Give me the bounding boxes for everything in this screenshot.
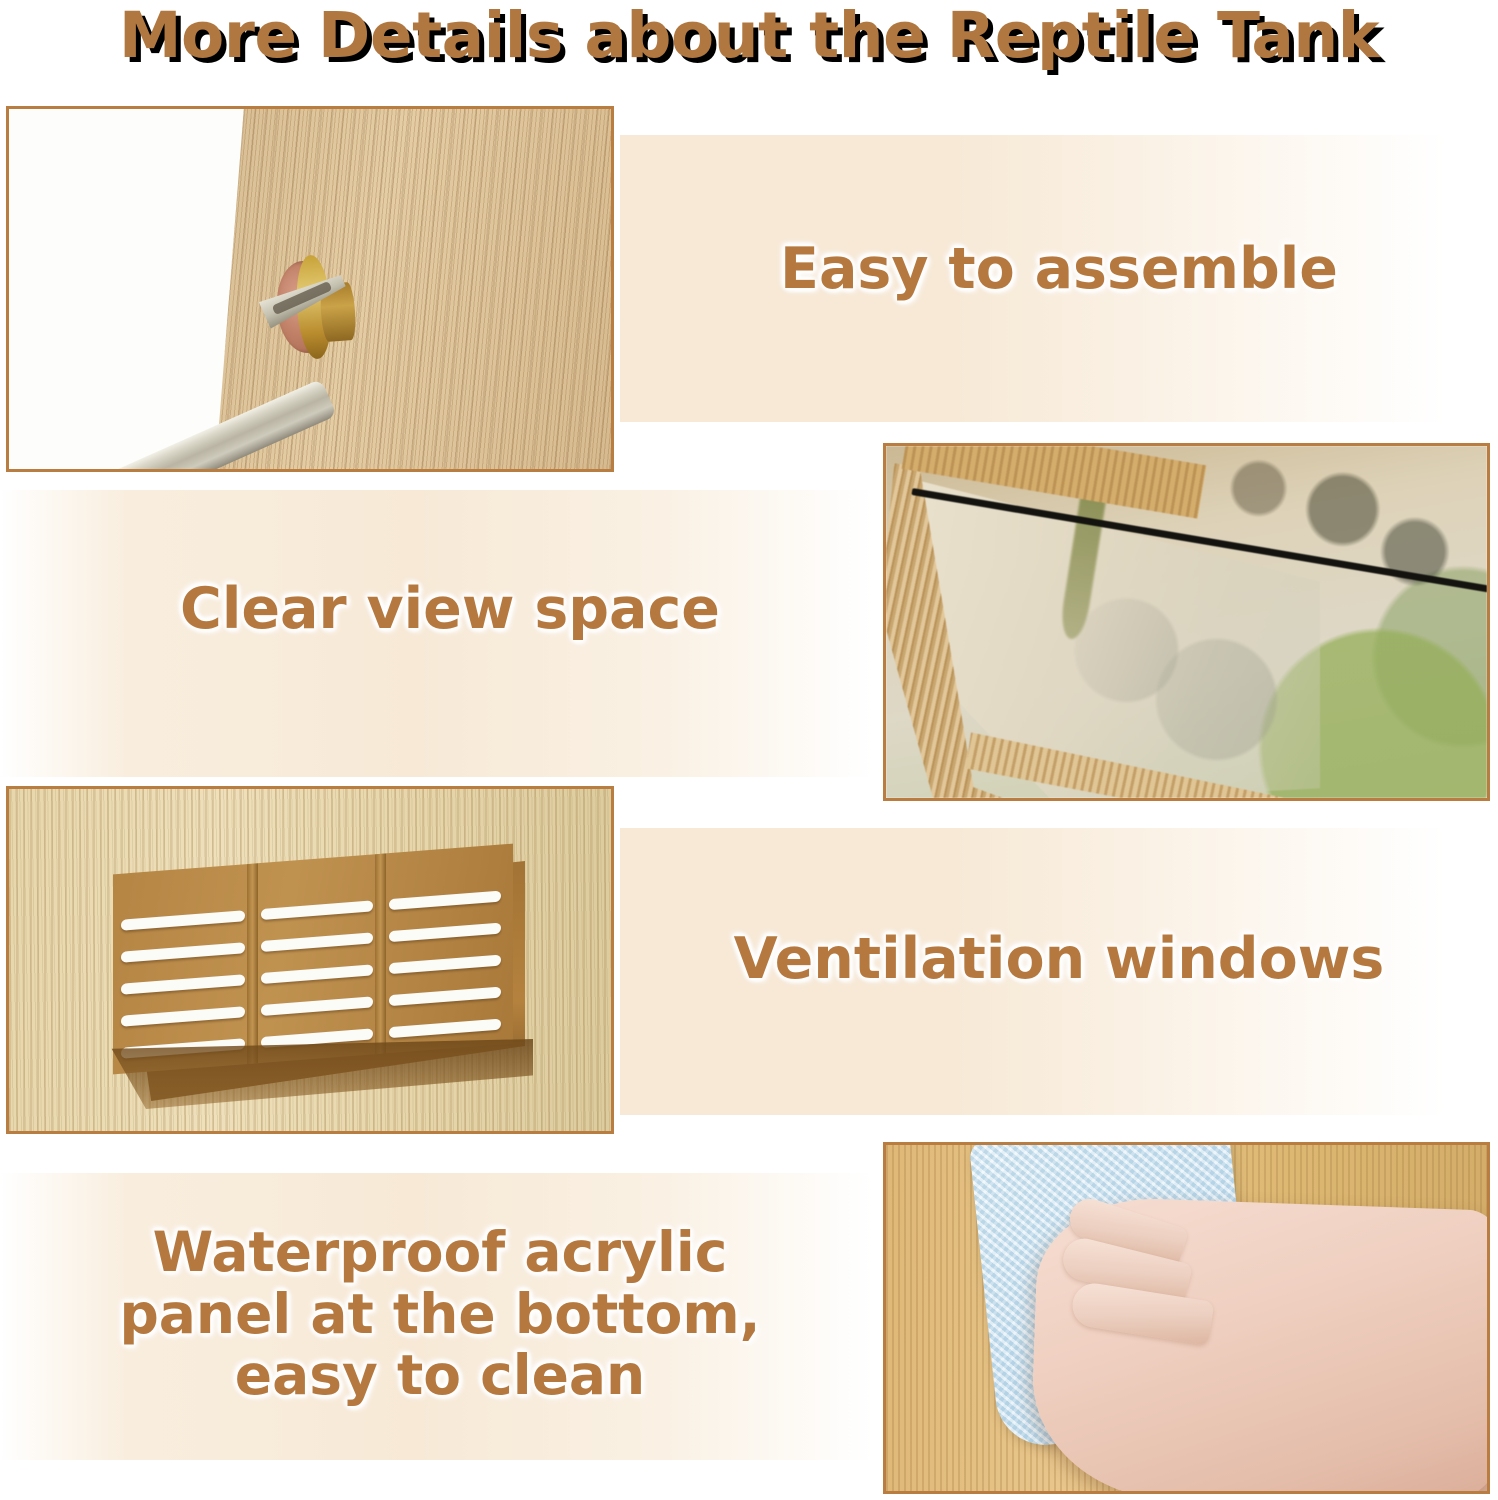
vent-slot [121, 942, 245, 963]
feature-photo-waterproof-acrylic-panel [883, 1142, 1490, 1494]
vent-slot [121, 910, 245, 931]
page-title: More Details about the Reptile Tank [0, 0, 1498, 76]
ventilation-grille-photo [9, 789, 611, 1131]
clear-view-panel-photo [886, 446, 1487, 798]
vent-slot [389, 923, 501, 943]
vent-slot [389, 1019, 501, 1039]
vent-slot [121, 974, 245, 995]
feature-caption-waterproof-acrylic-panel: Waterproof acrylic panel at the bottom, … [0, 1222, 880, 1407]
feature-caption-ventilation-windows: Ventilation windows [620, 928, 1498, 992]
vent-slot [261, 964, 373, 984]
vent-divider [247, 863, 258, 1064]
vent-slot [389, 987, 501, 1007]
vent-slot [261, 900, 373, 920]
vent-slot [389, 955, 501, 975]
vent-slot [261, 996, 373, 1016]
vent-slot [261, 932, 373, 952]
vent-slot [389, 891, 501, 911]
vent-grille-shape [113, 844, 513, 1075]
vent-slot [121, 1006, 245, 1027]
feature-photo-ventilation-windows [6, 786, 614, 1134]
screwdriver-screw-photo [9, 109, 611, 469]
feature-caption-clear-view-space: Clear view space [0, 578, 900, 642]
vent-shadow-shape [103, 1039, 533, 1109]
feature-caption-easy-to-assemble: Easy to assemble [620, 238, 1498, 302]
feature-photo-clear-view-space [883, 443, 1490, 801]
feature-photo-easy-to-assemble [6, 106, 614, 472]
vent-divider [375, 853, 386, 1054]
cleaning-hand-photo [886, 1145, 1487, 1491]
infographic-page: More Details about the Reptile Tank Easy… [0, 0, 1498, 1500]
